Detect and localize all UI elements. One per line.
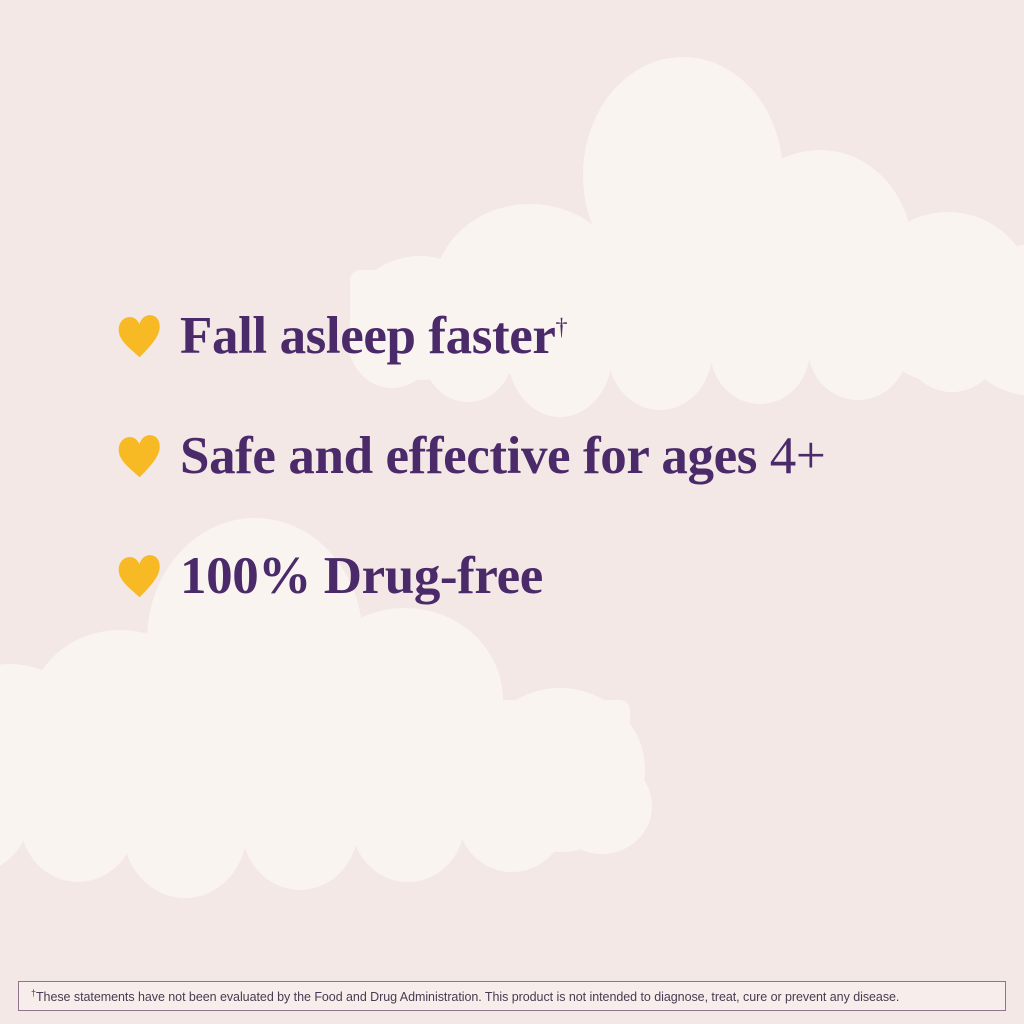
- benefit-label: Fall asleep faster†: [180, 310, 567, 363]
- promo-card: Fall asleep faster† Safe and effective f…: [0, 0, 1024, 1024]
- benefit-item: 100% Drug-free: [118, 536, 543, 616]
- disclaimer-box: †These statements have not been evaluate…: [18, 981, 1006, 1011]
- benefit-item: Fall asleep faster†: [118, 296, 567, 376]
- heart-icon: [118, 554, 160, 598]
- benefit-item: Safe and effective for ages 4+: [118, 416, 825, 496]
- benefit-age-value: 4+: [770, 427, 826, 485]
- disclaimer-body: These statements have not been evaluated…: [36, 990, 899, 1004]
- benefit-label: 100% Drug-free: [180, 550, 543, 603]
- disclaimer-text: †These statements have not been evaluate…: [31, 989, 899, 1004]
- heart-icon: [118, 434, 160, 478]
- heart-icon: [118, 314, 160, 358]
- cloud-background: [0, 0, 1024, 1024]
- footnote-marker: †: [555, 314, 567, 340]
- benefit-label: Safe and effective for ages 4+: [180, 430, 825, 483]
